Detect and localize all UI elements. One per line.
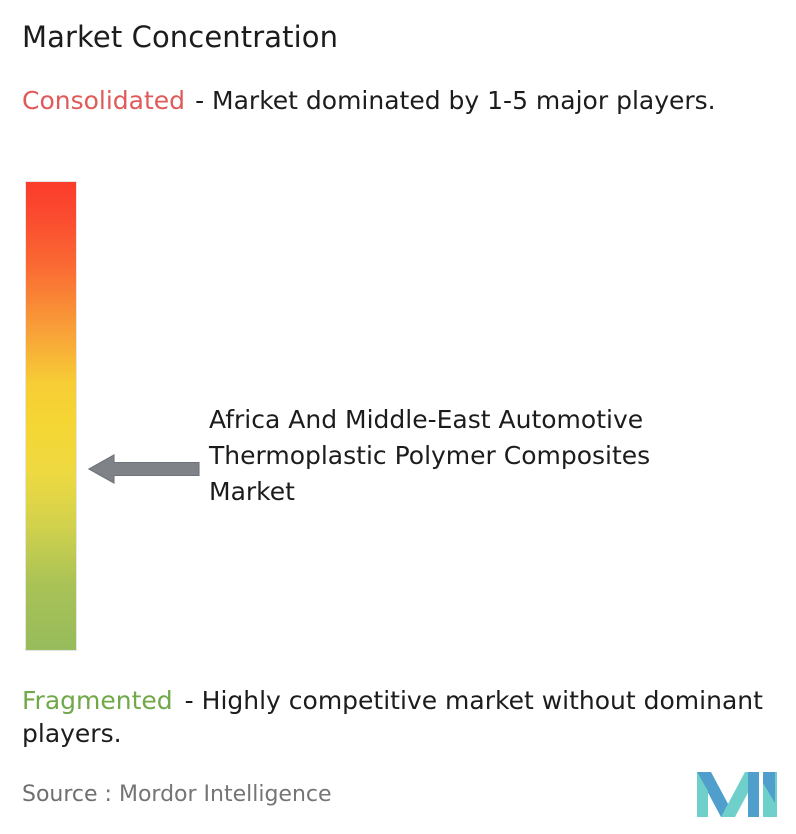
arrow-left-icon-svg <box>88 453 200 485</box>
market-callout-label: Africa And Middle-East Automotive Thermo… <box>209 402 679 510</box>
page-title: Market Concentration <box>22 20 338 54</box>
source-label: Source : <box>22 782 112 807</box>
source-value: Mordor Intelligence <box>119 782 332 807</box>
legend-fragmented: Fragmented- Highly competitive market wi… <box>22 684 792 750</box>
concentration-gradient-bar <box>26 182 76 650</box>
legend-fragmented-keyword: Fragmented <box>22 686 173 715</box>
legend-consolidated: Consolidated- Market dominated by 1-5 ma… <box>22 84 774 117</box>
legend-consolidated-description: - Market dominated by 1-5 major players. <box>195 86 716 115</box>
arrow-left-icon <box>88 453 200 485</box>
source-attribution: Source :Mordor Intelligence <box>22 782 332 807</box>
legend-consolidated-keyword: Consolidated <box>22 86 185 115</box>
mordor-intelligence-logo <box>697 771 777 818</box>
mordor-intelligence-logo-svg <box>697 771 777 818</box>
